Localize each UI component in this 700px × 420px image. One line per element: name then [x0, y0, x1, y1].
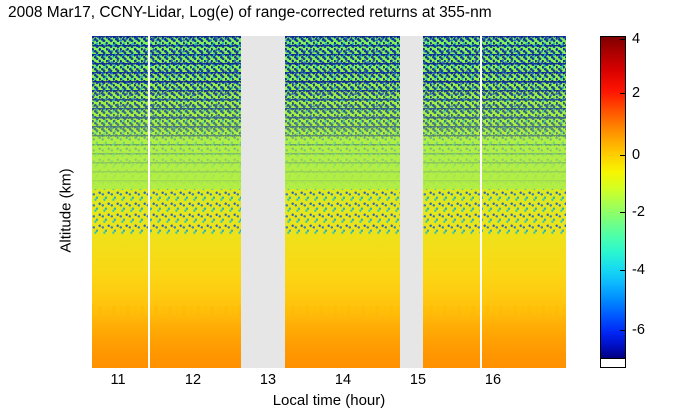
x-tick-16: 16: [473, 372, 513, 388]
data-segment-3: [423, 36, 566, 368]
colorbar-tick-0: 0: [632, 147, 640, 163]
colorbar-tick-4: 4: [632, 31, 640, 47]
x-tick-13: 13: [248, 372, 288, 388]
scan-gap-line: [148, 36, 150, 368]
segment-boundary-layer-band: [92, 312, 241, 368]
segment-noise-layer-c: [92, 36, 241, 136]
colorbar-tick-neg2: -2: [632, 204, 645, 220]
data-gap-2: [400, 36, 423, 368]
x-tick-15: 15: [398, 372, 438, 388]
data-segment-2: [285, 36, 400, 368]
data-gap-1: [241, 36, 285, 368]
lidar-heatmap-plot: [92, 36, 566, 368]
colorbar-tick-mark: [620, 93, 625, 94]
colorbar-tick-mark: [620, 39, 625, 40]
x-tick-14: 14: [323, 372, 363, 388]
colorbar-tick-mark: [620, 330, 625, 331]
colorbar-gradient-jet: [600, 36, 626, 359]
page-title: 2008 Mar17, CCNY-Lidar, Log(e) of range-…: [8, 3, 698, 23]
segment-boundary-layer-band: [423, 312, 566, 368]
segment-noise-layer-c: [423, 36, 566, 136]
data-segment-1: [92, 36, 241, 368]
colorbar-underflow-swatch: [600, 358, 626, 368]
colorbar-tick-mark: [620, 212, 625, 213]
x-axis-title: Local time (hour): [92, 392, 566, 409]
colorbar-tick-2: 2: [632, 85, 640, 101]
x-tick-12: 12: [173, 372, 213, 388]
colorbar-tick-neg6: -6: [632, 322, 645, 338]
colorbar: 4 2 0 -2 -4 -6: [600, 36, 626, 368]
colorbar-tick-mark: [620, 155, 625, 156]
segment-boundary-layer-band: [285, 312, 400, 368]
colorbar-tick-neg4: -4: [632, 262, 645, 278]
colorbar-tick-mark: [620, 270, 625, 271]
x-tick-11: 11: [98, 372, 138, 388]
y-axis-title: Altitude (km): [58, 111, 75, 311]
segment-noise-layer-c: [285, 36, 400, 136]
scan-gap-line: [480, 36, 482, 368]
